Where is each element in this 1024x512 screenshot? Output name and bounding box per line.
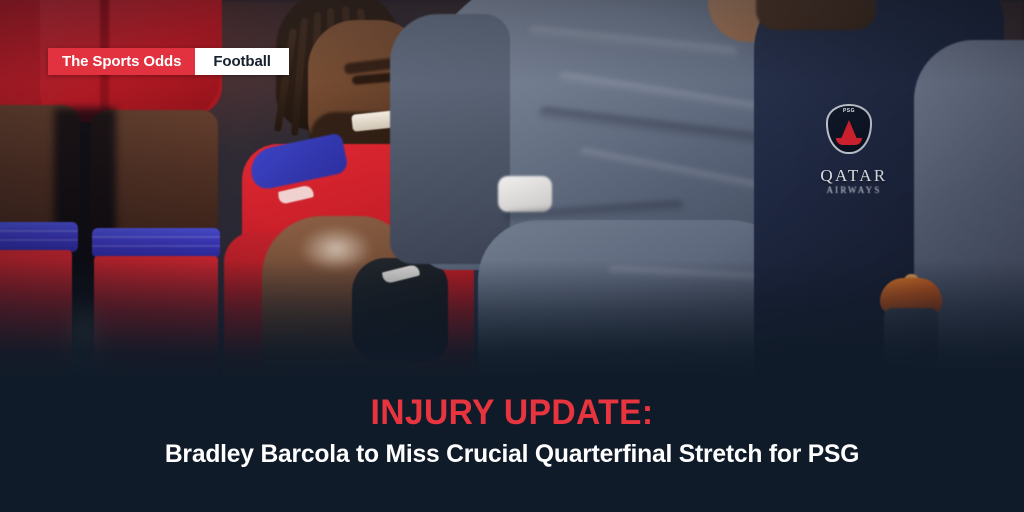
page-title: Bradley Barcola to Miss Crucial Quarterf… xyxy=(8,441,1017,469)
bottle-body xyxy=(884,308,938,366)
injury-update-graphic: PSG QATAR AIRWAYS The Sports Odds Footba… xyxy=(0,0,1024,512)
sock-band-right xyxy=(92,228,220,258)
staff-head xyxy=(756,0,876,30)
crest-cradle xyxy=(836,138,862,145)
red-sock-right xyxy=(94,256,218,380)
pitch-blur xyxy=(58,300,110,380)
brand-badge[interactable]: The Sports Odds xyxy=(48,48,195,75)
white-sock xyxy=(498,176,552,212)
eiffel-tower-icon xyxy=(841,120,857,139)
knee-highlight xyxy=(300,226,372,272)
sponsor-qatar-text: QATAR xyxy=(802,166,906,186)
medic-arm xyxy=(390,14,510,264)
water-bottle xyxy=(880,278,942,364)
psg-crest-paris-text: PSG xyxy=(828,108,870,114)
headline-bar: INJURY UPDATE: Bradley Barcola to Miss C… xyxy=(0,377,1024,512)
sock-band-left xyxy=(0,222,78,252)
breadcrumb: The Sports Odds Football xyxy=(48,48,289,75)
sponsor-airways-text: AIRWAYS xyxy=(802,185,906,195)
category-badge-football[interactable]: Football xyxy=(195,48,289,75)
headline-kicker: INJURY UPDATE: xyxy=(20,395,1003,430)
